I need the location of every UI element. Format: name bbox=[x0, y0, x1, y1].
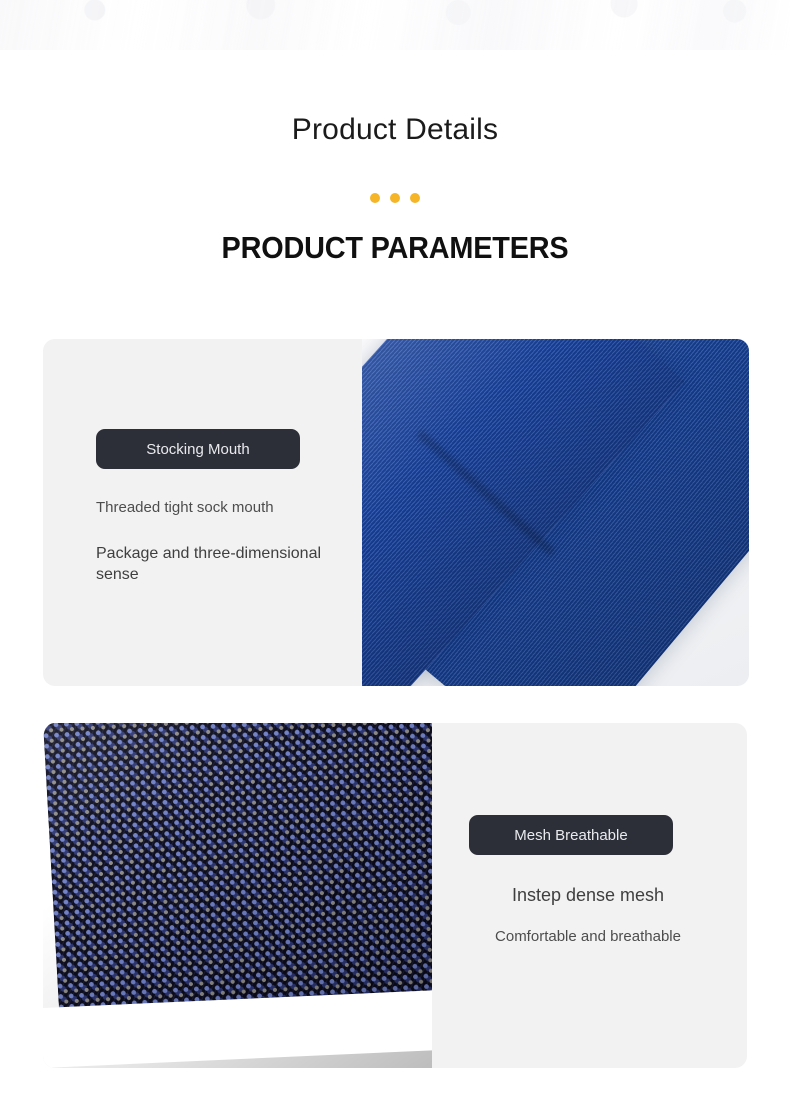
sock-cuff-photo bbox=[362, 339, 749, 686]
feature-headline: Instep dense mesh bbox=[429, 885, 747, 906]
feature-description: Comfortable and breathable bbox=[429, 926, 747, 947]
divider-dot-1 bbox=[370, 193, 380, 203]
feature-label-badge: Stocking Mouth bbox=[96, 429, 300, 469]
divider-dot-3 bbox=[410, 193, 420, 203]
product-details-page: Product Details PRODUCT PARAMETERS Stock… bbox=[0, 0, 790, 1103]
page-title: Product Details bbox=[0, 111, 790, 149]
feature-card-stocking-mouth: Stocking Mouth Threaded tight sock mouth… bbox=[43, 339, 749, 686]
page-subtitle: PRODUCT PARAMETERS bbox=[28, 229, 763, 267]
mesh-photo-clip bbox=[43, 723, 432, 1068]
feature-label-badge: Mesh Breathable bbox=[469, 815, 673, 855]
feature-description: Package and three-dimensional sense bbox=[96, 543, 328, 585]
divider-dot-2 bbox=[390, 193, 400, 203]
card-text-panel: Mesh Breathable Instep dense mesh Comfor… bbox=[429, 723, 747, 1068]
card-text-panel: Stocking Mouth Threaded tight sock mouth… bbox=[43, 339, 406, 686]
top-banner-remnant bbox=[0, 0, 790, 50]
mesh-fabric-photo bbox=[43, 723, 432, 1068]
dot-divider bbox=[0, 193, 790, 203]
feature-headline: Threaded tight sock mouth bbox=[96, 497, 376, 518]
feature-card-mesh-breathable: Mesh Breathable Instep dense mesh Comfor… bbox=[43, 723, 747, 1068]
